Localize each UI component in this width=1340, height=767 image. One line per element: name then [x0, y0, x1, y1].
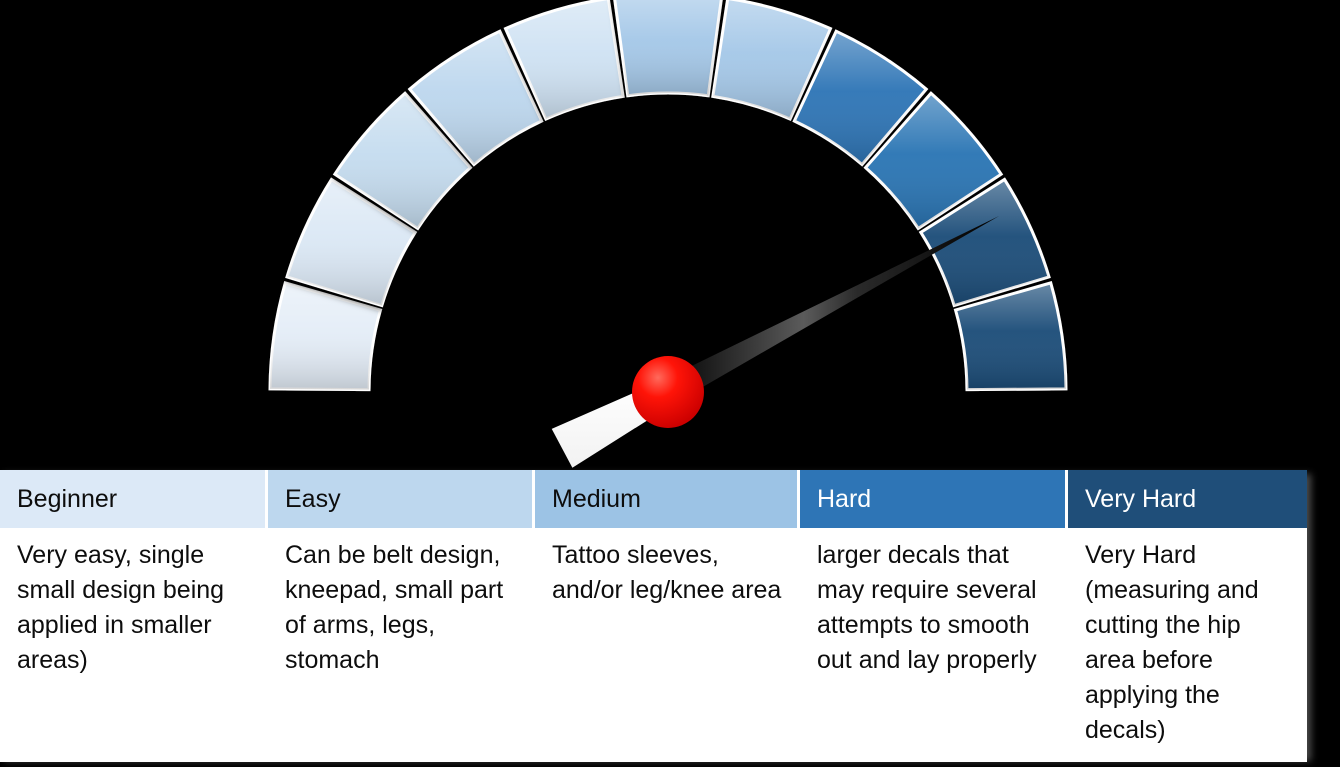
cell-beginner-description: Very easy, single small design being app… — [0, 528, 268, 762]
gauge-segments — [270, 0, 1066, 390]
column-header-very-hard[interactable]: Very Hard — [1068, 470, 1307, 528]
column-header-easy[interactable]: Easy — [268, 470, 535, 528]
cell-hard-description: larger decals that may require several a… — [800, 528, 1068, 762]
cell-text: Tattoo sleeves, and/or leg/knee area — [552, 538, 783, 608]
cell-text: Very easy, single small design being app… — [17, 538, 251, 678]
column-header-hard[interactable]: Hard — [800, 470, 1068, 528]
gauge-region — [0, 0, 1340, 470]
table-header-row: Beginner Easy Medium Hard Very Hard — [0, 470, 1307, 528]
needle-pointer[interactable] — [662, 216, 999, 404]
cell-text: Can be belt design, kneepad, small part … — [285, 538, 518, 678]
slide-canvas: Beginner Easy Medium Hard Very Hard Very… — [0, 0, 1340, 767]
cell-easy-description: Can be belt design, kneepad, small part … — [268, 528, 535, 762]
difficulty-legend-table: Beginner Easy Medium Hard Very Hard Very… — [0, 470, 1307, 757]
cell-medium-description: Tattoo sleeves, and/or leg/knee area — [535, 528, 800, 762]
table-row: Very easy, single small design being app… — [0, 528, 1307, 762]
cell-text: Very Hard (measuring and cutting the hip… — [1085, 538, 1293, 748]
column-header-medium[interactable]: Medium — [535, 470, 800, 528]
gauge-segment-sheen-6 — [614, 0, 721, 96]
gauge-needle[interactable] — [552, 216, 999, 468]
column-header-beginner[interactable]: Beginner — [0, 470, 268, 528]
gauge-pivot-hub — [632, 356, 704, 428]
cell-text: larger decals that may require several a… — [817, 538, 1051, 678]
difficulty-gauge — [0, 0, 1340, 470]
cell-very-hard-description: Very Hard (measuring and cutting the hip… — [1068, 528, 1307, 762]
